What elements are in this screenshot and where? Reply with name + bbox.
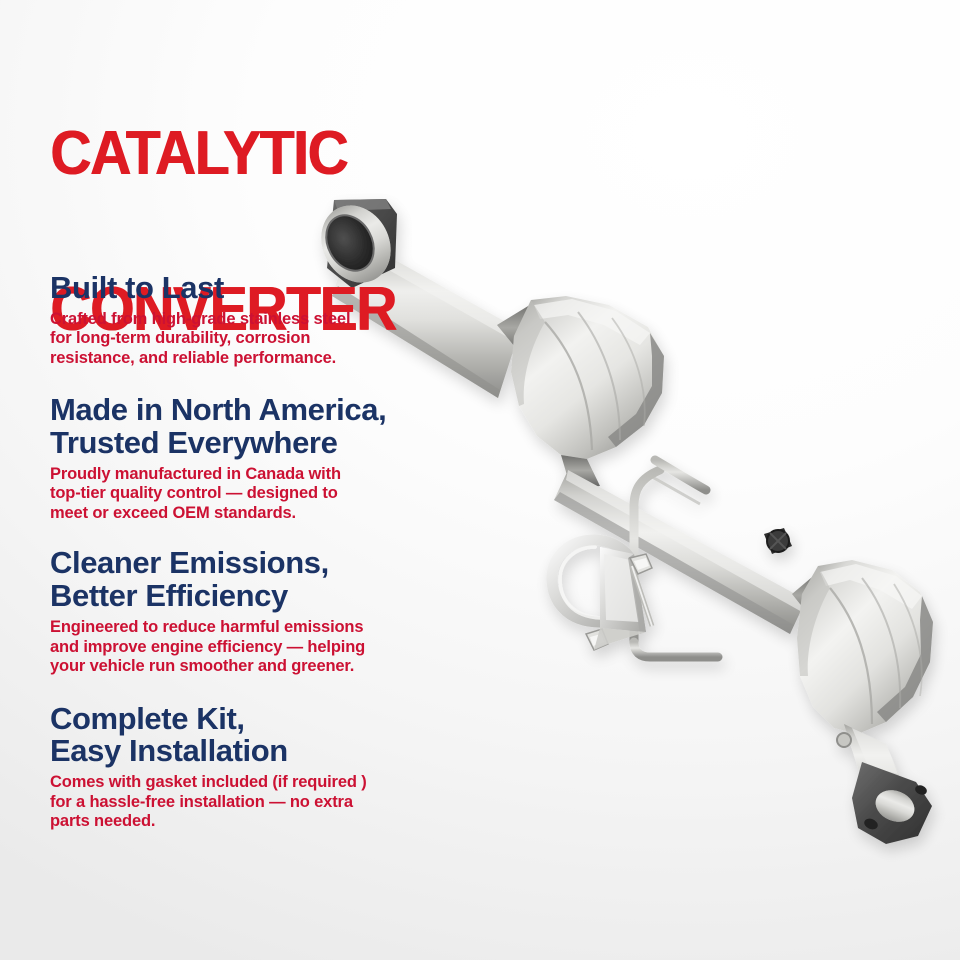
feature-body: Comes with gasket included (if required … bbox=[50, 773, 470, 831]
feature-body: Crafted from high-grade stainless steel … bbox=[50, 310, 470, 368]
oxygen-sensor-bung bbox=[764, 528, 792, 554]
feature-item-cleaner-emissions: Cleaner Emissions, Better Efficiency Eng… bbox=[50, 547, 470, 676]
feature-item-built-to-last: Built to Last Crafted from high-grade st… bbox=[50, 272, 470, 368]
lower-converter-body bbox=[792, 560, 933, 734]
feature-item-complete-kit: Complete Kit, Easy Installation Comes wi… bbox=[50, 703, 470, 832]
feature-body: Engineered to reduce harmful emissions a… bbox=[50, 618, 470, 676]
feature-heading: Made in North America, Trusted Everywher… bbox=[50, 394, 470, 460]
feature-list: Built to Last Crafted from high-grade st… bbox=[50, 272, 470, 854]
feature-body: Proudly manufactured in Canada with top-… bbox=[50, 465, 470, 523]
exhaust-u-bolt-clamp bbox=[552, 540, 652, 650]
outlet-pipe bbox=[837, 724, 912, 806]
product-infographic-poster: CATALYTIC CONVERTER Built to Last Crafte… bbox=[0, 0, 960, 960]
title-line-1: CATALYTIC bbox=[50, 128, 396, 180]
outlet-flange bbox=[852, 762, 932, 844]
upper-converter-body bbox=[497, 296, 664, 489]
feature-heading: Complete Kit, Easy Installation bbox=[50, 703, 470, 769]
feature-heading: Cleaner Emissions, Better Efficiency bbox=[50, 547, 470, 613]
feature-heading: Built to Last bbox=[50, 272, 470, 305]
mid-pipe bbox=[554, 470, 806, 634]
feature-item-made-in-north-america: Made in North America, Trusted Everywher… bbox=[50, 394, 470, 523]
hanger-bracket bbox=[634, 460, 718, 657]
